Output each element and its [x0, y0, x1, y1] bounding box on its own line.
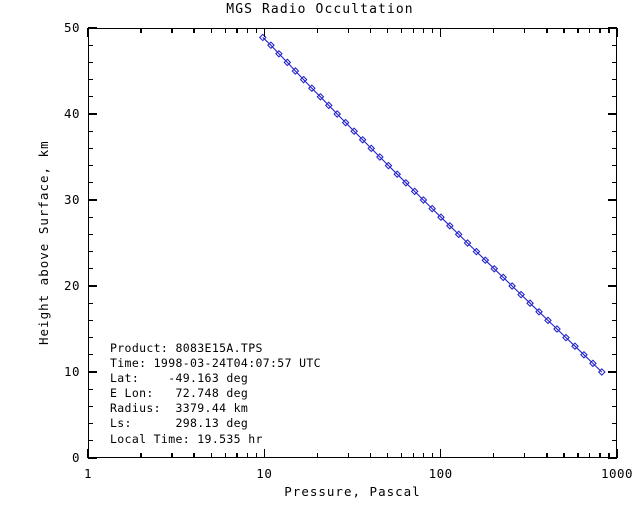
y-axis-tick [88, 320, 93, 321]
x-axis-tick [317, 453, 318, 458]
x-axis-tick [563, 453, 564, 458]
y-axis-tick [612, 217, 617, 218]
y-axis-title: Height above Surface, km [36, 140, 51, 345]
x-axis-tick [236, 453, 237, 458]
y-axis-tick [88, 354, 93, 355]
y-axis-tick [88, 182, 93, 183]
y-axis-tick [612, 45, 617, 46]
x-axis-tick [563, 28, 564, 33]
x-axis-tick [317, 28, 318, 33]
y-axis-tick [88, 27, 97, 28]
y-axis-tick [88, 251, 93, 252]
y-axis-tick [612, 165, 617, 166]
y-axis-tick [612, 320, 617, 321]
annotation-line: Product: 8083E15A.TPS [110, 341, 321, 356]
x-axis-tick [589, 453, 590, 458]
y-axis-tick [88, 457, 97, 458]
x-axis-tick [225, 453, 226, 458]
x-axis-tick [432, 28, 433, 33]
x-axis-tick-label: 100 [401, 466, 481, 481]
y-axis-tick [612, 182, 617, 183]
x-axis-tick [348, 28, 349, 33]
x-axis-tick [608, 28, 609, 33]
x-axis-tick [524, 453, 525, 458]
x-axis-tick [401, 453, 402, 458]
x-axis-tick [348, 453, 349, 458]
x-axis-tick [370, 28, 371, 33]
y-axis-tick [612, 406, 617, 407]
y-axis-tick [88, 131, 93, 132]
y-axis-tick [612, 268, 617, 269]
x-axis-tick [193, 28, 194, 33]
y-axis-tick [612, 62, 617, 63]
y-axis-tick [612, 234, 617, 235]
y-axis-tick [88, 165, 93, 166]
x-axis-tick [256, 28, 257, 33]
y-axis-tick [608, 27, 617, 28]
x-axis-tick [432, 453, 433, 458]
annotation-line: Time: 1998-03-24T04:07:57 UTC [110, 356, 321, 371]
x-axis-tick [493, 453, 494, 458]
y-axis-tick [88, 285, 97, 286]
x-axis-tick [211, 453, 212, 458]
x-axis-tick [524, 28, 525, 33]
x-axis-tick [370, 453, 371, 458]
x-axis-tick [225, 28, 226, 33]
x-axis-tick-label: 10 [224, 466, 304, 481]
y-axis-tick [88, 440, 93, 441]
y-axis-tick [608, 371, 617, 372]
y-axis-tick [612, 389, 617, 390]
series-line [263, 37, 602, 372]
x-axis-tick [193, 453, 194, 458]
y-axis-tick [88, 217, 93, 218]
y-axis-tick-label: 10 [26, 364, 80, 379]
y-axis-tick [88, 389, 93, 390]
x-axis-tick [599, 28, 600, 33]
x-axis-tick [401, 28, 402, 33]
y-axis-tick [88, 337, 93, 338]
y-axis-tick [88, 423, 93, 424]
y-axis-tick-label: 40 [26, 106, 80, 121]
y-axis-tick [608, 199, 617, 200]
y-axis-tick [612, 354, 617, 355]
y-axis-tick [612, 303, 617, 304]
x-axis-tick [413, 28, 414, 33]
x-axis-title: Pressure, Pascal [88, 484, 617, 499]
x-axis-tick [440, 28, 441, 37]
x-axis-tick [171, 28, 172, 33]
x-axis-tick [616, 28, 617, 37]
y-axis-tick [88, 148, 93, 149]
x-axis-tick [247, 28, 248, 33]
x-axis-tick [577, 28, 578, 33]
y-axis-tick-label: 20 [26, 278, 80, 293]
y-axis-tick [88, 406, 93, 407]
x-axis-tick [423, 453, 424, 458]
y-axis-tick [612, 423, 617, 424]
y-axis-tick [608, 285, 617, 286]
x-axis-tick [413, 453, 414, 458]
x-axis-tick [256, 453, 257, 458]
x-axis-tick [211, 28, 212, 33]
x-axis-tick [140, 453, 141, 458]
y-axis-tick [612, 148, 617, 149]
y-axis-tick [612, 440, 617, 441]
x-axis-tick [577, 453, 578, 458]
x-axis-tick [546, 28, 547, 33]
x-axis-tick [264, 449, 265, 458]
y-axis-tick [88, 96, 93, 97]
annotation-line: Lat: -49.163 deg [110, 371, 321, 386]
x-axis-tick [423, 28, 424, 33]
x-axis-tick [589, 28, 590, 33]
y-axis-tick [88, 371, 97, 372]
y-axis-tick [88, 268, 93, 269]
x-axis-tick-label: 1 [48, 466, 128, 481]
annotation-line: E Lon: 72.748 deg [110, 386, 321, 401]
y-axis-tick [612, 79, 617, 80]
y-axis-tick [88, 79, 93, 80]
x-axis-tick [387, 453, 388, 458]
annotation-line: Radius: 3379.44 km [110, 401, 321, 416]
y-axis-tick [88, 45, 93, 46]
x-axis-tick [493, 28, 494, 33]
y-axis-tick [612, 251, 617, 252]
plot-canvas: MGS Radio Occultation 110100100001020304… [0, 0, 640, 512]
y-axis-tick [88, 199, 97, 200]
y-axis-tick [88, 62, 93, 63]
x-axis-tick [440, 449, 441, 458]
y-axis-tick-label: 0 [26, 450, 80, 465]
x-axis-tick [599, 453, 600, 458]
x-axis-tick [247, 453, 248, 458]
y-axis-tick [88, 303, 93, 304]
x-axis-tick-label: 1000 [577, 466, 640, 481]
x-axis-tick [546, 453, 547, 458]
page-title: MGS Radio Occultation [0, 2, 640, 17]
y-axis-tick [608, 457, 617, 458]
x-axis-tick [171, 453, 172, 458]
y-axis-tick [612, 131, 617, 132]
metadata-annotation: Product: 8083E15A.TPSTime: 1998-03-24T04… [110, 341, 321, 447]
y-axis-tick-label: 30 [26, 192, 80, 207]
y-axis-tick [612, 337, 617, 338]
x-axis-tick [264, 28, 265, 37]
annotation-line: Ls: 298.13 deg [110, 416, 321, 431]
annotation-line: Local Time: 19.535 hr [110, 432, 321, 447]
x-axis-tick [140, 28, 141, 33]
y-axis-tick [612, 96, 617, 97]
x-axis-tick [387, 28, 388, 33]
y-axis-tick [608, 113, 617, 114]
y-axis-tick-label: 50 [26, 20, 80, 35]
y-axis-tick [88, 234, 93, 235]
x-axis-tick [87, 28, 88, 37]
x-axis-tick [236, 28, 237, 33]
y-axis-tick [88, 113, 97, 114]
